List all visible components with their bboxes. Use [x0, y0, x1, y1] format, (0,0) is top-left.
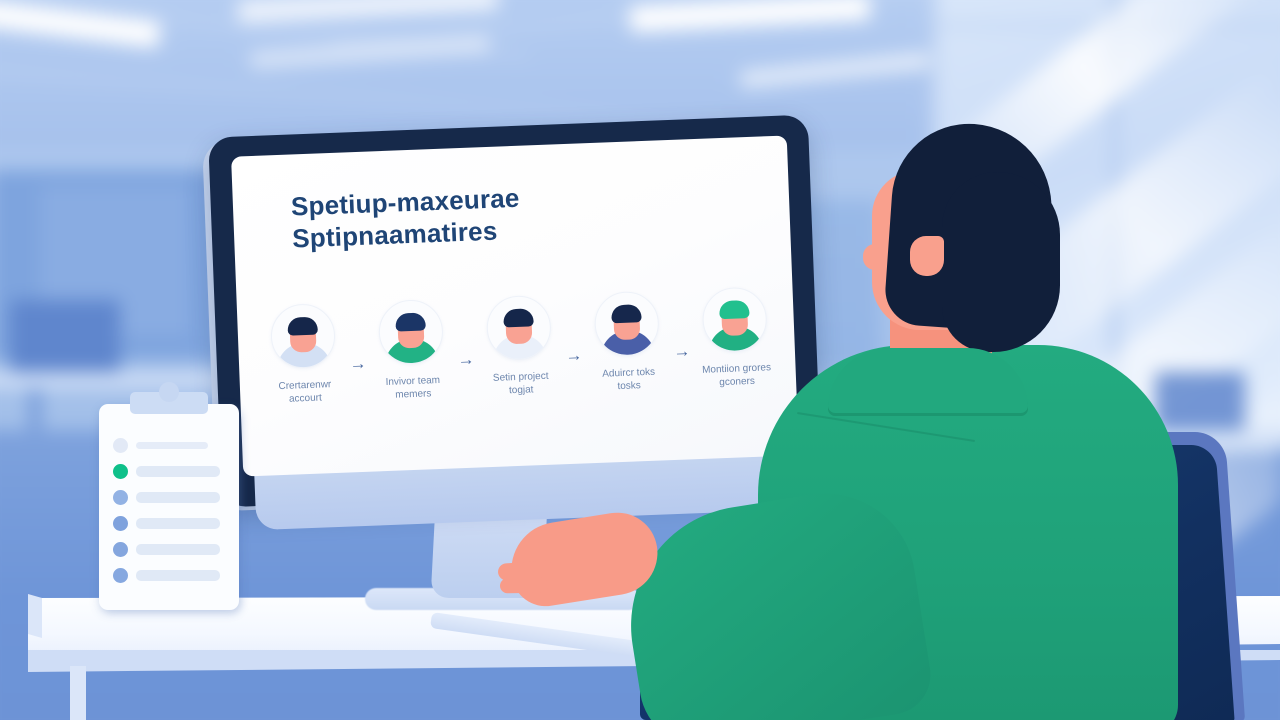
step-item-2[interactable]: Invivor team memers: [371, 299, 453, 403]
list-item-line: [136, 442, 208, 449]
checkbox-dot[interactable]: [113, 568, 128, 583]
arrow-icon: →: [457, 351, 475, 369]
desk-leg: [70, 666, 86, 720]
list-item-line: [136, 544, 220, 555]
avatar-hair: [503, 308, 534, 327]
arrow-icon: →: [349, 355, 367, 373]
finger: [500, 578, 548, 594]
shirt-collar: [828, 348, 1028, 416]
step-label-1: Crertarenwr accourt: [262, 377, 349, 406]
step-item-3[interactable]: Setin project togjat: [479, 294, 561, 398]
list-item[interactable]: [113, 568, 227, 583]
list-item-line: [136, 518, 220, 529]
checkbox-dot[interactable]: [113, 438, 128, 453]
desk-side: [28, 594, 42, 638]
avatar: [378, 299, 444, 365]
step-label-line-2: accourt: [262, 390, 348, 406]
step-label-3: Setin project togjat: [478, 369, 565, 398]
illustration-scene: Spetiup-maxeurae Sptipnaamatires Crertar…: [0, 0, 1280, 720]
avatar-hair: [287, 317, 318, 336]
list-item[interactable]: [113, 464, 227, 479]
list-item-line: [136, 466, 220, 477]
avatar-hair: [395, 312, 426, 331]
nose: [863, 244, 885, 270]
checkbox-dot[interactable]: [113, 490, 128, 505]
checkbox-dot-completed[interactable]: [113, 464, 128, 479]
ear: [910, 236, 944, 276]
step-label-line-2: memers: [370, 386, 456, 402]
checkbox-dot[interactable]: [113, 516, 128, 531]
step-label-line-2: togjat: [478, 382, 564, 398]
hair-back: [942, 172, 1060, 352]
list-item-line: [136, 492, 220, 503]
checklist-rows: [113, 438, 227, 594]
list-item-line: [136, 570, 220, 581]
step-item-1[interactable]: Crertarenwr accourt: [263, 303, 345, 407]
clipboard[interactable]: [99, 404, 239, 610]
avatar: [486, 295, 552, 361]
clipboard-knob: [159, 382, 179, 402]
seated-worker: [560, 110, 1280, 720]
list-item[interactable]: [113, 490, 227, 505]
step-label-2: Invivor team memers: [370, 373, 457, 402]
checkbox-dot[interactable]: [113, 542, 128, 557]
list-item[interactable]: [113, 438, 227, 453]
far-monitor: [10, 300, 120, 372]
list-item[interactable]: [113, 542, 227, 557]
list-item[interactable]: [113, 516, 227, 531]
avatar: [270, 303, 336, 369]
